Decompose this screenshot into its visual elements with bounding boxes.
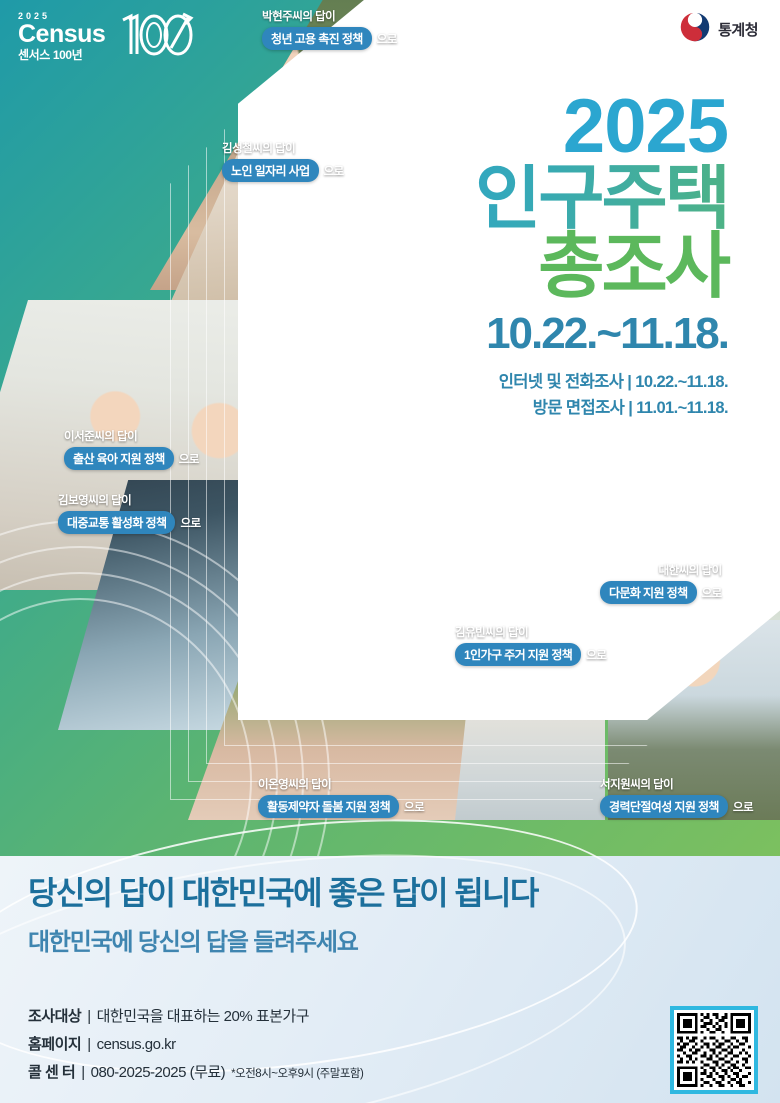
caption-suffix: 으로 — [179, 451, 199, 467]
title-date-range: 10.22.~11.18. — [368, 312, 728, 356]
info-label: 홈페이지 — [28, 1036, 81, 1055]
caption-policy-pill: 활동제약자 돌봄 지원 정책 — [258, 795, 399, 818]
caption-suffix: 으로 — [180, 515, 200, 531]
info-separator: | — [87, 1008, 90, 1027]
qr-code[interactable] — [670, 1006, 758, 1094]
caption-person: 이서준씨의 답이 — [64, 428, 199, 444]
caption-suffix: 으로 — [586, 647, 606, 663]
caption-policy-pill: 1인가구 주거 지원 정책 — [455, 643, 581, 666]
caption-policy-pill: 청년 고용 촉진 정책 — [262, 27, 372, 50]
caption-kim-yubin: 김유빈씨의 답이 1인가구 주거 지원 정책 으로 — [455, 624, 606, 666]
caption-policy-pill: 대중교통 활성화 정책 — [58, 511, 175, 534]
title-main: 인구주택 총조사 — [368, 164, 728, 302]
info-separator: | — [87, 1036, 90, 1055]
info-row-callcenter: 콜 센 터 | 080-2025-2025 (무료) *오전8시~오후9시 (주… — [28, 1064, 363, 1083]
callcenter-hours: *오전8시~오후9시 (주말포함) — [231, 1067, 363, 1081]
caption-seo-jiwon: 서지원씨의 답이 경력단절여성 지원 정책 으로 — [600, 776, 753, 818]
survey-info-list: 조사대상 | 대한민국을 대표하는 20% 표본가구 홈페이지 | census… — [28, 1008, 363, 1091]
caption-person: 김보영씨의 답이 — [58, 492, 201, 508]
caption-park-hyunju: 박현주씨의 답이 청년 고용 촉진 정책 으로 — [262, 8, 397, 50]
campaign-headline: 당신의 답이 대한민국에 좋은 답이 됩니다 — [28, 876, 538, 911]
caption-daehan: 대한씨의 답이 다문화 지원 정책 으로 — [600, 562, 722, 604]
census-100-logo: 2025 Census 센서스 100년 — [18, 10, 195, 63]
caption-policy-pill: 출산 육아 지원 정책 — [64, 447, 174, 470]
caption-suffix: 으로 — [324, 163, 344, 179]
info-label: 콜 센 터 — [28, 1064, 75, 1083]
info-row-target: 조사대상 | 대한민국을 대표하는 20% 표본가구 — [28, 1008, 363, 1027]
hundred-mark-icon — [113, 10, 195, 63]
caption-policy-pill: 노인 일자리 사업 — [222, 159, 319, 182]
caption-policy-pill: 다문화 지원 정책 — [600, 581, 697, 604]
caption-kim-boyoung: 김보영씨의 답이 대중교통 활성화 정책 으로 — [58, 492, 201, 534]
census-logo-word: Census — [18, 22, 105, 47]
caption-lee-onyoung: 이온영씨의 답이 활동제약자 돌봄 지원 정책 으로 — [258, 776, 424, 818]
caption-kim-seongchul: 김성철씨의 답이 노인 일자리 사업 으로 — [222, 140, 344, 182]
census-logo-kr: 센서스 100년 — [18, 49, 105, 61]
phone-number: 080-2025-2025 (무료) — [91, 1064, 226, 1083]
title-line-1: 인구주택 — [368, 164, 728, 233]
gov-agency-label: 통계청 — [718, 19, 758, 40]
taegeuk-icon — [680, 12, 710, 47]
census-poster: 2025 Census 센서스 100년 — [0, 0, 780, 1103]
bottom-section: 당신의 답이 대한민국에 좋은 답이 됩니다 대한민국에 당신의 답을 들려주세… — [0, 856, 780, 1103]
statistics-korea-logo: 통계청 — [680, 12, 758, 47]
survey-method-online: 인터넷 및 전화조사 | 10.22.~11.18. — [368, 370, 728, 396]
caption-lee-seojun: 이서준씨의 답이 출산 육아 지원 정책 으로 — [64, 428, 199, 470]
caption-suffix: 으로 — [404, 799, 424, 815]
caption-person: 서지원씨의 답이 — [600, 776, 753, 792]
caption-suffix: 으로 — [733, 799, 753, 815]
caption-person: 김성철씨의 답이 — [222, 140, 344, 156]
survey-method-visit: 방문 면접조사 | 11.01.~11.18. — [368, 396, 728, 422]
caption-person: 박현주씨의 답이 — [262, 8, 397, 24]
survey-methods: 인터넷 및 전화조사 | 10.22.~11.18. 방문 면접조사 | 11.… — [368, 370, 728, 421]
campaign-subhead: 대한민국에 당신의 답을 들려주세요 — [28, 922, 358, 957]
title-year: 2025 — [368, 92, 728, 162]
info-separator: | — [81, 1064, 84, 1083]
website-link[interactable]: census.go.kr — [97, 1036, 176, 1055]
info-value: 대한민국을 대표하는 20% 표본가구 — [97, 1008, 309, 1027]
poster-title: 2025 인구주택 총조사 10.22.~11.18. 인터넷 및 전화조사 |… — [368, 92, 728, 421]
photo-collage: 2025 Census 센서스 100년 — [0, 0, 780, 860]
title-line-2: 총조사 — [368, 233, 728, 302]
caption-person: 이온영씨의 답이 — [258, 776, 424, 792]
info-row-website[interactable]: 홈페이지 | census.go.kr — [28, 1036, 363, 1055]
caption-person: 대한씨의 답이 — [600, 562, 722, 578]
caption-suffix: 으로 — [377, 31, 397, 47]
caption-policy-pill: 경력단절여성 지원 정책 — [600, 795, 728, 818]
caption-suffix: 으로 — [702, 585, 722, 601]
info-label: 조사대상 — [28, 1008, 81, 1027]
caption-person: 김유빈씨의 답이 — [455, 624, 606, 640]
